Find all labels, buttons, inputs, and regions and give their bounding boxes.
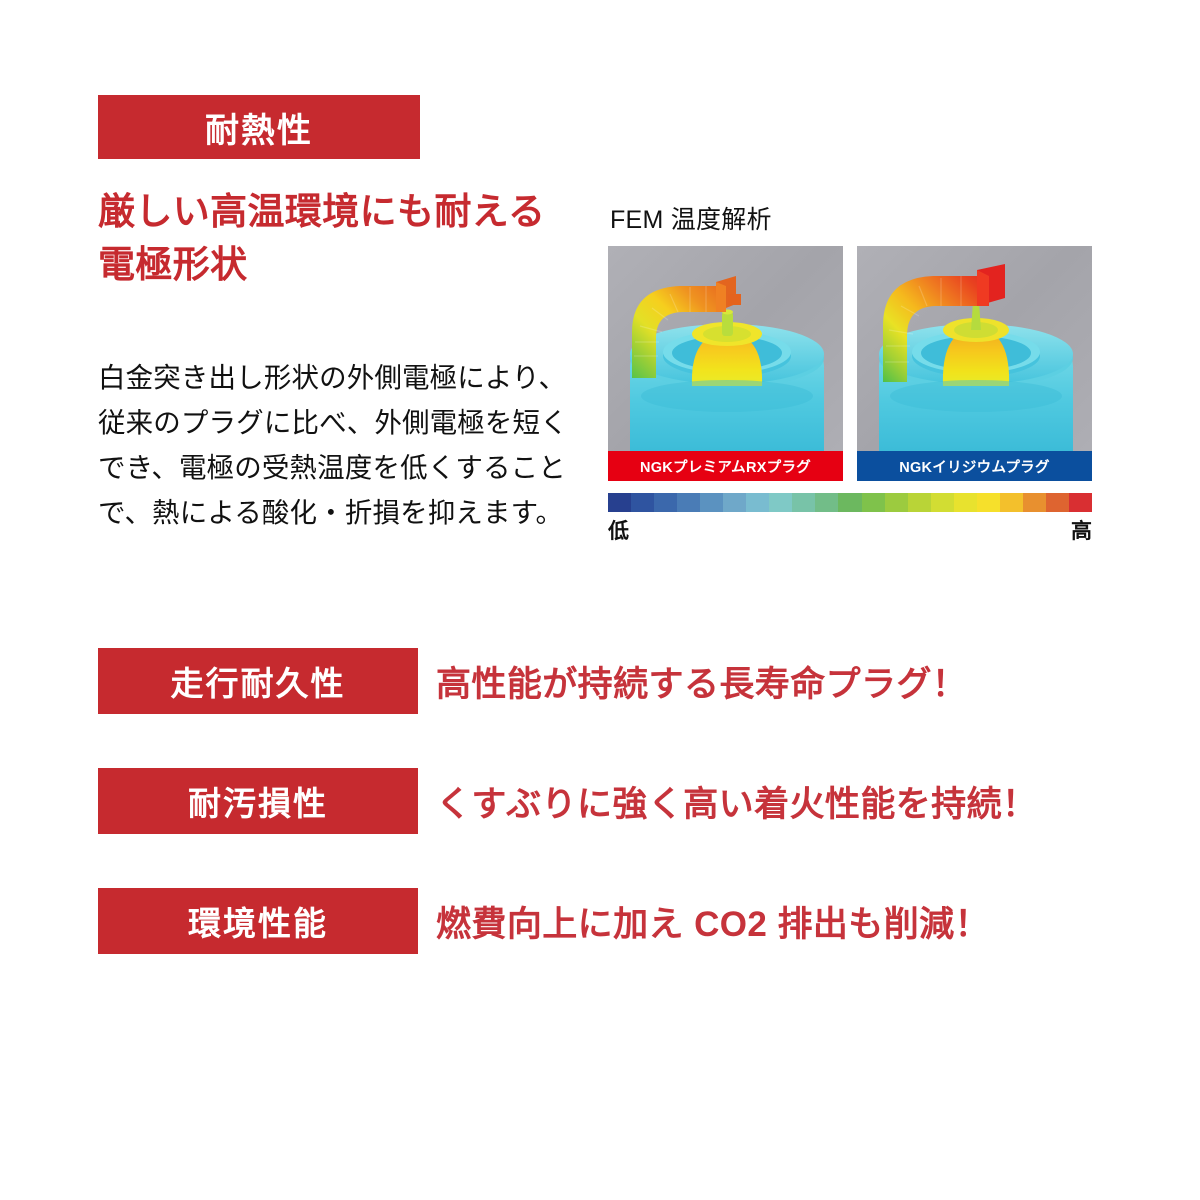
scale-high-label: 高 <box>1071 515 1092 545</box>
fem-analysis-title: FEM 温度解析 <box>610 200 1092 236</box>
fem-thermal-image-iridium <box>857 246 1092 451</box>
heat-resistance-heading: 厳しい高温環境にも耐える 電極形状 <box>98 186 598 291</box>
color-scale-band-20 <box>1069 493 1092 512</box>
color-scale-band-15 <box>954 493 977 512</box>
color-scale-band-0 <box>608 493 631 512</box>
scale-low-label: 低 <box>608 515 629 545</box>
heat-resistance-badge: 耐熱性 <box>98 95 420 159</box>
feature-row-fouling-resistance: 耐汚損性 くすぶりに強く高い着火性能を持続！ <box>98 768 1098 834</box>
color-scale-band-9 <box>815 493 838 512</box>
color-scale-band-3 <box>677 493 700 512</box>
heat-resistance-heading-line-1: 厳しい高温環境にも耐える <box>98 186 598 239</box>
feature-row-environmental: 環境性能 燃費向上に加え CO2 排出も削減！ <box>98 888 1098 954</box>
feature-row-durability: 走行耐久性 高性能が持続する長寿命プラグ！ <box>98 648 1098 714</box>
feature-row-list: 走行耐久性 高性能が持続する長寿命プラグ！ 耐汚損性 くすぶりに強く高い着火性能… <box>98 648 1098 1008</box>
temperature-scale-labels: 低 高 <box>608 515 1092 545</box>
fouling-resistance-badge-label: 耐汚損性 <box>188 777 328 825</box>
fem-panel-group: NGKプレミアムRXプラグ <box>608 246 1092 481</box>
heat-resistance-heading-line-2: 電極形状 <box>98 239 598 292</box>
color-scale-band-16 <box>977 493 1000 512</box>
color-scale-band-17 <box>1000 493 1023 512</box>
heat-resistance-badge-label: 耐熱性 <box>205 103 313 152</box>
color-scale-band-5 <box>723 493 746 512</box>
spark-plug-thermal-render-icon <box>857 246 1092 451</box>
durability-badge-label: 走行耐久性 <box>171 657 346 705</box>
color-scale-band-14 <box>931 493 954 512</box>
fem-panel-premium-rx: NGKプレミアムRXプラグ <box>608 246 843 481</box>
environmental-badge: 環境性能 <box>98 888 418 954</box>
color-scale-band-10 <box>838 493 861 512</box>
fem-caption-iridium: NGKイリジウムプラグ <box>857 451 1092 481</box>
fem-analysis-block: FEM 温度解析 <box>608 200 1092 545</box>
color-scale-band-7 <box>769 493 792 512</box>
color-scale-band-18 <box>1023 493 1046 512</box>
spark-plug-thermal-render-icon <box>608 246 843 451</box>
color-scale-band-6 <box>746 493 769 512</box>
durability-description: 高性能が持続する長寿命プラグ！ <box>436 656 967 707</box>
color-scale-band-19 <box>1046 493 1069 512</box>
fem-thermal-image-premium-rx <box>608 246 843 451</box>
fouling-resistance-description: くすぶりに強く高い着火性能を持続！ <box>436 776 1037 827</box>
fem-caption-premium-rx: NGKプレミアムRXプラグ <box>608 451 843 481</box>
color-scale-band-13 <box>908 493 931 512</box>
heat-resistance-body-text: 白金突き出し形状の外側電極により、従来のプラグに比べ、外側電極を短くでき、電極の… <box>98 355 588 535</box>
color-scale-band-4 <box>700 493 723 512</box>
environmental-description: 燃費向上に加え CO2 排出も削減！ <box>436 896 990 947</box>
color-scale-band-8 <box>792 493 815 512</box>
color-scale-band-1 <box>631 493 654 512</box>
fem-panel-iridium: NGKイリジウムプラグ <box>857 246 1092 481</box>
fouling-resistance-badge: 耐汚損性 <box>98 768 418 834</box>
color-scale-band-11 <box>862 493 885 512</box>
environmental-badge-label: 環境性能 <box>188 897 328 945</box>
color-scale-band-12 <box>885 493 908 512</box>
durability-badge: 走行耐久性 <box>98 648 418 714</box>
temperature-color-scale <box>608 493 1092 512</box>
color-scale-band-2 <box>654 493 677 512</box>
